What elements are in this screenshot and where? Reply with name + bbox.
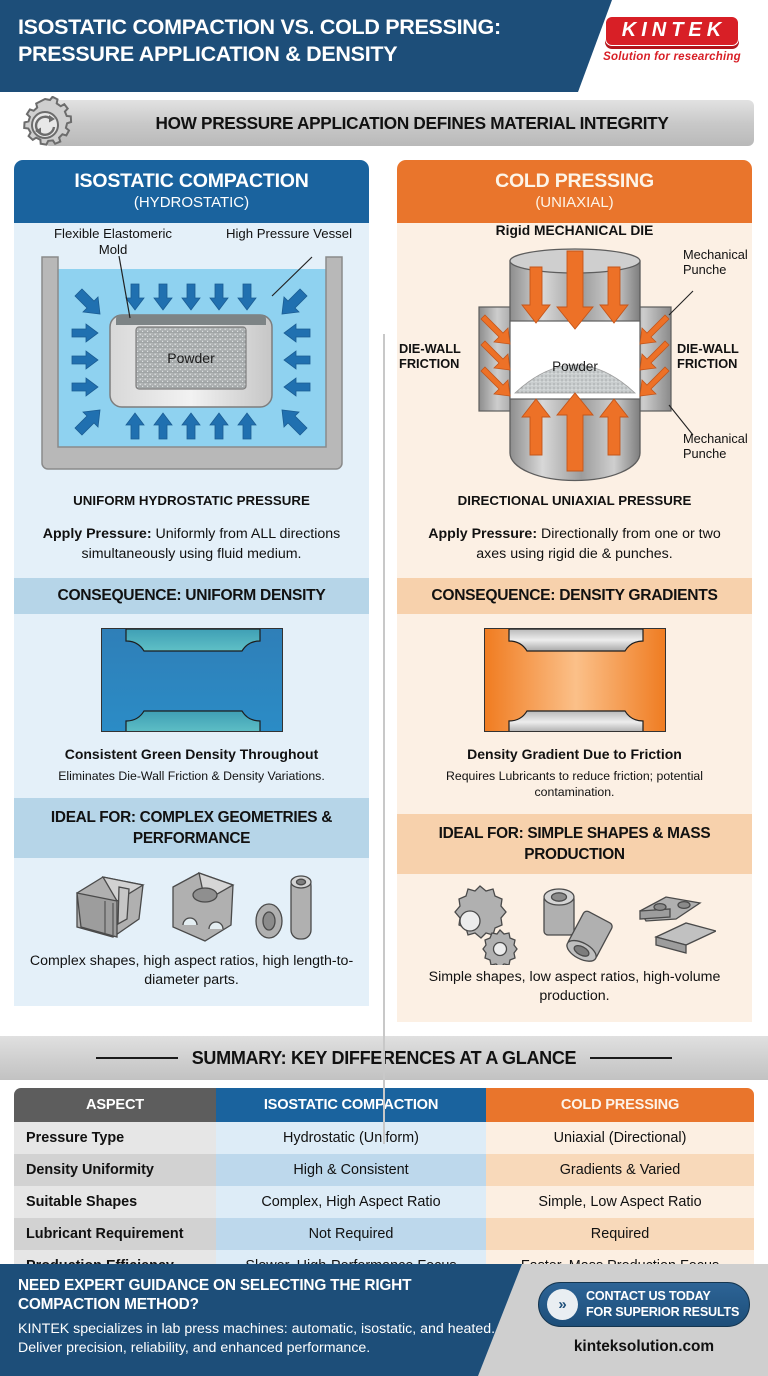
complex-part-icon bbox=[67, 865, 155, 949]
gear-icon bbox=[16, 96, 74, 154]
column-isostatic: ISOSTATIC COMPACTION (HYDROSTATIC) bbox=[14, 160, 369, 1022]
table-row: Lubricant Requirement Not Required Requi… bbox=[14, 1218, 754, 1250]
cold-density-svg bbox=[485, 629, 666, 732]
double-chevron-right-icon: » bbox=[547, 1289, 578, 1320]
row-3-cold: Required bbox=[486, 1218, 754, 1250]
row-0-aspect: Pressure Type bbox=[14, 1122, 216, 1154]
cold-apply-pressure: Apply Pressure: Directionally from one o… bbox=[397, 516, 752, 578]
logo-plate: KINTEK bbox=[605, 16, 739, 46]
cold-shapes-row bbox=[397, 874, 752, 966]
column-header-isostatic-sub: (HYDROSTATIC) bbox=[18, 193, 365, 212]
cold-apply-label: Apply Pressure: bbox=[428, 526, 537, 542]
row-2-cold: Simple, Low Aspect Ratio bbox=[486, 1186, 754, 1218]
table-header-isostatic: ISOSTATIC COMPACTION bbox=[216, 1088, 486, 1122]
kintek-logo: KINTEK Solution for researching bbox=[588, 16, 756, 63]
header-banner: ISOSTATIC COMPACTION VS. COLD PRESSING: … bbox=[0, 0, 768, 92]
column-header-cold-sub: (UNIAXIAL) bbox=[401, 193, 748, 212]
contact-us-button[interactable]: » CONTACT US TODAY FOR SUPERIOR RESULTS bbox=[538, 1282, 750, 1327]
column-body-cold: Powder bbox=[397, 223, 752, 1022]
footer-body: KINTEK specializes in lab press machines… bbox=[18, 1320, 496, 1358]
row-1-cold: Gradients & Varied bbox=[486, 1154, 754, 1186]
cold-ideal-band: IDEAL FOR: SIMPLE SHAPES & MASS PRODUCTI… bbox=[397, 814, 752, 874]
row-3-aspect: Lubricant Requirement bbox=[14, 1218, 216, 1250]
infographic-page: ISOSTATIC COMPACTION VS. COLD PRESSING: … bbox=[0, 0, 768, 1376]
cold-label-punch-bottom: Mechanical Punche bbox=[683, 431, 755, 461]
isostatic-label-vessel: High Pressure Vessel bbox=[214, 226, 364, 242]
summary-rule-right bbox=[590, 1057, 672, 1060]
plates-icon bbox=[626, 881, 716, 965]
isostatic-ideal-band: IDEAL FOR: COMPLEX GEOMETRIES & PERFORMA… bbox=[14, 798, 369, 858]
cold-density-visual-wrap bbox=[397, 614, 752, 736]
isostatic-apply-pressure: Apply Pressure: Uniformly from ALL direc… bbox=[14, 516, 369, 578]
cold-ideal-sub: Simple shapes, low aspect ratios, high-v… bbox=[397, 966, 752, 1022]
table-row: Density Uniformity High & Consistent Gra… bbox=[14, 1154, 754, 1186]
summary-rule-left bbox=[96, 1057, 178, 1060]
subheader-strip: HOW PRESSURE APPLICATION DEFINES MATERIA… bbox=[0, 92, 768, 160]
row-0-isostatic: Hydrostatic (Uniform) bbox=[216, 1122, 486, 1154]
tube-parts-icon bbox=[251, 865, 317, 949]
page-title-line1: ISOSTATIC COMPACTION VS. COLD PRESSING: bbox=[18, 14, 588, 41]
isostatic-shapes-row bbox=[14, 858, 369, 950]
website-url[interactable]: kinteksolution.com bbox=[538, 1338, 750, 1356]
isostatic-consequence-band: CONSEQUENCE: UNIFORM DENSITY bbox=[14, 578, 369, 614]
isostatic-apply-label: Apply Pressure: bbox=[43, 526, 152, 542]
isostatic-diagram: Powder bbox=[14, 223, 369, 491]
cold-diagram-caption: DIRECTIONAL UNIAXIAL PRESSURE bbox=[397, 491, 752, 516]
cold-label-friction-left: DIE-WALL FRICTION bbox=[399, 341, 471, 371]
isostatic-ideal-sub: Complex shapes, high aspect ratios, high… bbox=[14, 950, 369, 1006]
cold-consequence-band: CONSEQUENCE: DENSITY GRADIENTS bbox=[397, 578, 752, 614]
row-2-aspect: Suitable Shapes bbox=[14, 1186, 216, 1218]
table-row: Suitable Shapes Complex, High Aspect Rat… bbox=[14, 1186, 754, 1218]
table-header-aspect: ASPECT bbox=[14, 1088, 216, 1122]
gears-icon bbox=[434, 881, 520, 965]
page-title-line2: PRESSURE APPLICATION & DENSITY bbox=[18, 41, 588, 68]
isostatic-diagram-caption: UNIFORM HYDROSTATIC PRESSURE bbox=[14, 491, 369, 516]
column-header-isostatic-main: ISOSTATIC COMPACTION bbox=[18, 170, 365, 193]
logo-wordmark: KINTEK bbox=[618, 20, 726, 41]
isostatic-density-svg bbox=[102, 629, 283, 732]
bushings-icon bbox=[530, 881, 616, 965]
row-3-isostatic: Not Required bbox=[216, 1218, 486, 1250]
isostatic-density-visual-wrap bbox=[14, 614, 369, 736]
notched-cube-icon bbox=[165, 865, 241, 949]
subheader-bar: HOW PRESSURE APPLICATION DEFINES MATERIA… bbox=[44, 100, 754, 146]
column-body-isostatic: Powder bbox=[14, 223, 369, 1006]
cold-density-sub: Requires Lubricants to reduce friction; … bbox=[397, 762, 752, 814]
subheader-text: HOW PRESSURE APPLICATION DEFINES MATERIA… bbox=[129, 113, 668, 134]
column-header-cold-main: COLD PRESSING bbox=[401, 170, 748, 193]
row-1-isostatic: High & Consistent bbox=[216, 1154, 486, 1186]
isostatic-powder-label: Powder bbox=[167, 350, 215, 366]
column-cold-pressing: COLD PRESSING (UNIAXIAL) bbox=[397, 160, 752, 1022]
row-2-isostatic: Complex, High Aspect Ratio bbox=[216, 1186, 486, 1218]
row-0-cold: Uniaxial (Directional) bbox=[486, 1122, 754, 1154]
row-1-aspect: Density Uniformity bbox=[14, 1154, 216, 1186]
isostatic-label-mold: Flexible Elastomeric Mold bbox=[38, 226, 188, 258]
footer: NEED EXPERT GUIDANCE ON SELECTING THE RI… bbox=[0, 1264, 768, 1376]
logo-tagline: Solution for researching bbox=[588, 51, 756, 63]
cold-powder-label: Powder bbox=[552, 359, 598, 374]
column-divider bbox=[383, 334, 385, 1144]
column-header-cold: COLD PRESSING (UNIAXIAL) bbox=[397, 160, 752, 223]
isostatic-density-title: Consistent Green Density Throughout bbox=[14, 736, 369, 762]
cold-density-visual bbox=[484, 628, 666, 732]
cold-label-die: Rigid MECHANICAL DIE bbox=[457, 223, 692, 238]
cta-line-1: CONTACT US TODAY bbox=[586, 1289, 739, 1305]
isostatic-diagram-svg: Powder bbox=[14, 223, 369, 491]
column-header-isostatic: ISOSTATIC COMPACTION (HYDROSTATIC) bbox=[14, 160, 369, 223]
isostatic-density-visual bbox=[101, 628, 283, 732]
cold-label-punch-top: Mechanical Punche bbox=[683, 247, 755, 277]
footer-heading: NEED EXPERT GUIDANCE ON SELECTING THE RI… bbox=[18, 1276, 488, 1314]
comparison-columns: ISOSTATIC COMPACTION (HYDROSTATIC) bbox=[0, 160, 768, 1022]
cold-density-title: Density Gradient Due to Friction bbox=[397, 736, 752, 762]
cta-line-2: FOR SUPERIOR RESULTS bbox=[586, 1305, 739, 1321]
page-title: ISOSTATIC COMPACTION VS. COLD PRESSING: … bbox=[18, 14, 588, 68]
isostatic-density-sub: Eliminates Die-Wall Friction & Density V… bbox=[14, 762, 369, 798]
cold-label-friction-right: DIE-WALL FRICTION bbox=[677, 341, 753, 371]
cold-pressing-diagram: Powder bbox=[397, 223, 752, 491]
table-header-cold: COLD PRESSING bbox=[486, 1088, 754, 1122]
